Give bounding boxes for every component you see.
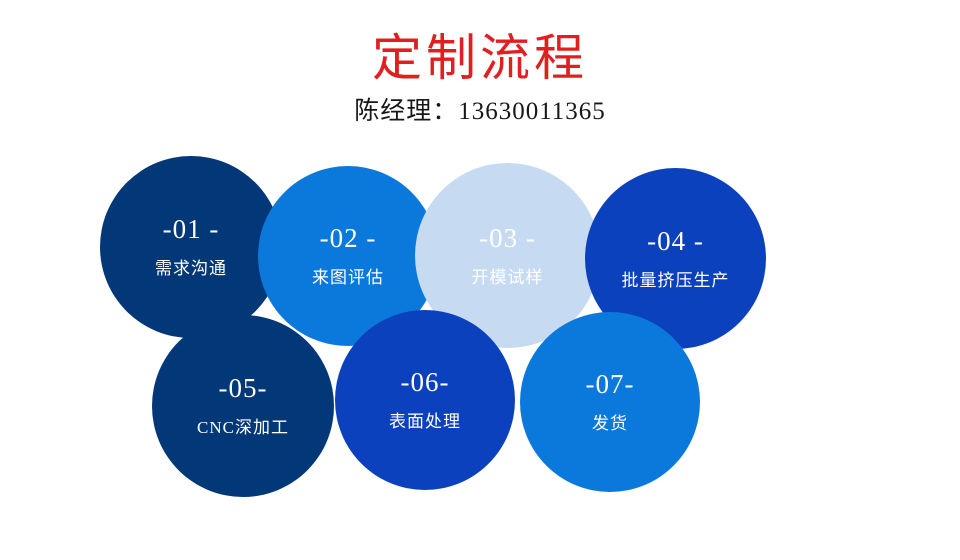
flow-step-1-number: -01 - bbox=[163, 214, 220, 244]
flow-step-2-label: 来图评估 bbox=[312, 267, 384, 289]
flow-step-3-label: 开模试样 bbox=[472, 267, 544, 289]
flow-step-5-label: CNC深加工 bbox=[197, 417, 289, 439]
flow-step-4-label: 批量挤压生产 bbox=[622, 270, 730, 292]
flow-step-6-label: 表面处理 bbox=[389, 411, 461, 433]
flow-step-2-number: -02 - bbox=[320, 223, 377, 253]
flow-step-6: -06- 表面处理 bbox=[335, 310, 515, 490]
flow-step-7: -07- 发货 bbox=[520, 312, 700, 492]
flow-step-4-number: -04 - bbox=[647, 226, 704, 256]
flow-step-6-number: -06- bbox=[401, 367, 450, 397]
flow-step-1: -01 - 需求沟通 bbox=[100, 156, 282, 338]
flow-step-5-number: -05- bbox=[219, 373, 268, 403]
process-flow-diagram: -01 - 需求沟通 -02 - 来图评估 -03 - 开模试样 -04 - 批… bbox=[0, 0, 960, 560]
slide-canvas: 定制流程 陈经理：13630011365 -01 - 需求沟通 -02 - 来图… bbox=[0, 0, 960, 560]
flow-step-7-number: -07- bbox=[586, 369, 635, 399]
flow-step-3-number: -03 - bbox=[479, 223, 536, 253]
flow-step-5: -05- CNC深加工 bbox=[152, 315, 334, 497]
flow-step-1-label: 需求沟通 bbox=[155, 258, 227, 280]
flow-step-7-label: 发货 bbox=[592, 413, 628, 435]
